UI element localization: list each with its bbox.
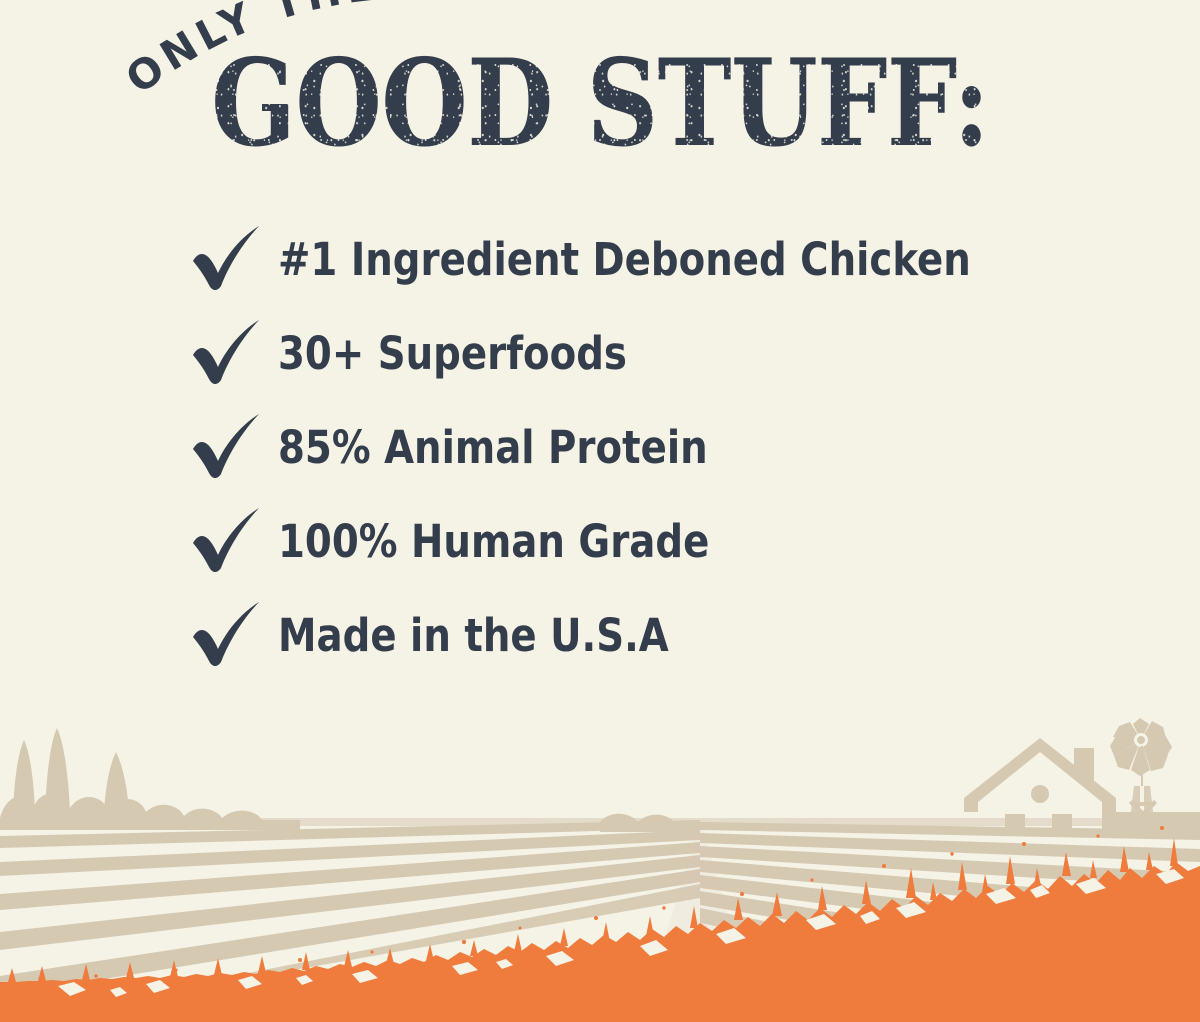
good-stuff-poster: ONLY THE GOOD STUFF: #1 Ingredient Debon…	[0, 0, 1200, 1022]
list-item: 30+ Superfoods	[190, 306, 1150, 400]
list-item: Made in the U.S.A	[190, 588, 1150, 682]
list-item: 100% Human Grade	[190, 494, 1150, 588]
benefit-list: #1 Ingredient Deboned Chicken 30+ Superf…	[190, 212, 1150, 682]
checkmark-icon	[190, 223, 264, 295]
list-item-label: 30+ Superfoods	[278, 327, 627, 380]
farm-landscape-illustration	[0, 690, 1200, 1022]
checkmark-icon	[190, 411, 264, 483]
checkmark-icon	[190, 505, 264, 577]
list-item-label: Made in the U.S.A	[278, 609, 669, 662]
list-item: #1 Ingredient Deboned Chicken	[190, 212, 1150, 306]
list-item-label: #1 Ingredient Deboned Chicken	[278, 233, 971, 286]
list-item: 85% Animal Protein	[190, 400, 1150, 494]
headline-block: ONLY THE GOOD STUFF:	[0, 0, 1200, 200]
page-title: GOOD STUFF:	[102, 44, 1098, 164]
checkmark-icon	[190, 599, 264, 671]
round-window	[1031, 785, 1049, 803]
checkmark-icon	[190, 317, 264, 389]
list-item-label: 85% Animal Protein	[278, 421, 708, 474]
list-item-label: 100% Human Grade	[278, 515, 709, 568]
page-title-text: GOOD STUFF:	[211, 44, 989, 164]
